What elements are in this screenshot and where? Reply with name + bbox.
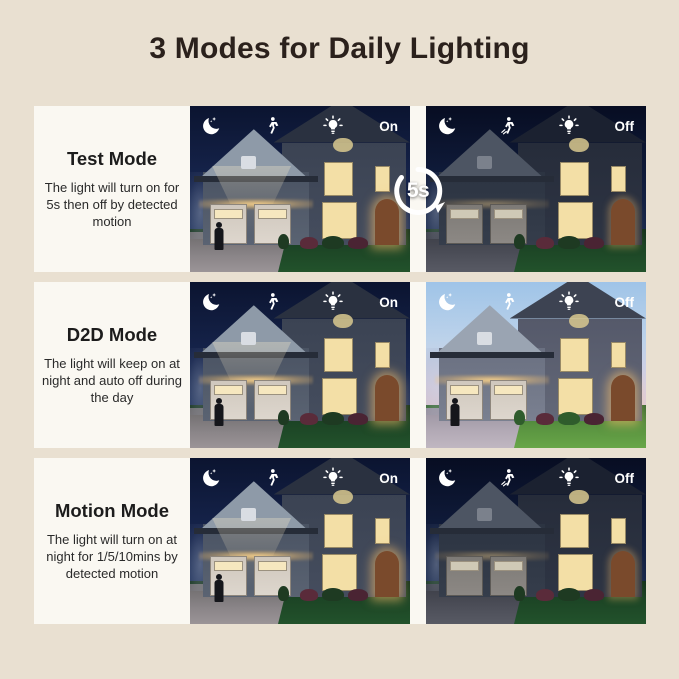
shrub [348,413,368,425]
scene-panel-light-off: Off [426,458,646,624]
shrub [322,236,344,249]
shrub [536,413,554,425]
garage-door-window [494,385,524,395]
mode-description: The light will keep on at night and auto… [40,355,184,407]
walking-person-motion-icon [493,463,523,493]
shrub [300,413,318,425]
person-body [214,580,223,602]
lightbulb-icon [318,463,348,493]
garage-door-window [450,209,480,219]
mode-title: D2D Mode [67,324,157,346]
walking-person-icon [257,287,287,317]
moon-stars-icon [196,111,226,141]
front-door [611,199,635,245]
shrub [584,413,604,425]
shrub [300,237,318,249]
lit-window [324,162,353,195]
shrub [322,412,344,425]
person-body [450,404,459,426]
walking-person [214,574,223,602]
moon-stars-icon [432,287,462,317]
status-icon-bar: Off [426,106,646,146]
garage-door-window [214,209,244,219]
shrub [558,588,580,601]
garage-door-window [450,561,480,571]
garage-door-window [214,561,244,571]
infographic-page: 3 Modes for Daily Lighting Test Mode The… [0,0,679,679]
front-door [375,375,399,421]
lit-window [375,342,390,369]
floodlight-fixture [477,332,492,345]
status-icon-bar: Off [426,458,646,498]
shrub [278,410,289,425]
lit-window [611,342,626,369]
person-body [214,228,223,250]
light-state-label: Off [614,471,640,486]
lit-window [375,518,390,545]
mode-description: The light will turn on for 5s then off b… [40,179,184,231]
mode-row: Motion Mode The light will turn on at ni… [34,458,646,624]
scene-panel-light-on: On [190,106,410,272]
lit-window [611,166,626,193]
walking-person-icon [257,111,287,141]
lit-window [560,338,589,371]
front-door [611,551,635,597]
garage-door-window [258,561,288,571]
lit-window [322,378,357,415]
lightbulb-icon [554,287,584,317]
mode-image-panels: On [190,458,646,624]
mode-text-card: Test Mode The light will turn on for 5s … [34,106,190,272]
panel-divider [414,282,422,448]
scene-panel-light-off-daytime: Off [426,282,646,448]
status-icon-bar: Off [426,282,646,322]
shrub [584,589,604,601]
shrub [514,410,525,425]
floodlight-fixture [241,156,256,169]
mode-title: Test Mode [67,148,157,170]
shrub [558,236,580,249]
status-icon-bar: On [190,282,410,322]
garage-door-window [258,385,288,395]
garage-door-window [450,385,480,395]
shrub [514,586,525,601]
panel-divider [414,106,422,272]
lit-window [324,514,353,547]
lit-window [322,202,357,239]
light-state-label: On [379,471,404,486]
mode-text-card: Motion Mode The light will turn on at ni… [34,458,190,624]
garage-door-window [258,209,288,219]
floodlight-fixture [241,332,256,345]
lightbulb-icon [554,463,584,493]
front-door [611,375,635,421]
walking-person [450,398,459,426]
shrub [300,589,318,601]
garage-door-window [214,385,244,395]
status-icon-bar: On [190,458,410,498]
floodlight-fixture [477,508,492,521]
light-state-label: On [379,119,404,134]
shrub [348,237,368,249]
shrub [536,237,554,249]
floodlight-fixture [477,156,492,169]
shrub [348,589,368,601]
light-state-label: On [379,295,404,310]
lightbulb-icon [318,111,348,141]
lit-window [560,162,589,195]
lit-window [324,338,353,371]
mode-rows: Test Mode The light will turn on for 5s … [34,106,646,624]
walking-person-icon [257,463,287,493]
shrub [278,586,289,601]
walking-person [214,222,223,250]
front-door [375,199,399,245]
lightbulb-icon [318,287,348,317]
mode-description: The light will turn on at night for 1/5/… [40,531,184,583]
moon-stars-icon [432,111,462,141]
moon-stars-icon [196,463,226,493]
lightbulb-icon [554,111,584,141]
shrub [322,588,344,601]
lit-window [375,166,390,193]
lit-window [558,202,593,239]
person-body [214,404,223,426]
scene-panel-light-on: On [190,458,410,624]
moon-stars-icon [432,463,462,493]
walking-person [214,398,223,426]
light-state-label: Off [614,295,640,310]
garage-door [446,204,483,244]
garage-door [446,556,483,596]
status-icon-bar: On [190,106,410,146]
walking-person-icon [493,287,523,317]
shrub [536,589,554,601]
mode-image-panels: On [190,106,646,272]
mode-title: Motion Mode [55,500,169,522]
lit-window [558,554,593,591]
lit-window [558,378,593,415]
mode-row: Test Mode The light will turn on for 5s … [34,106,646,272]
walking-person-motion-icon [493,111,523,141]
mode-text-card: D2D Mode The light will keep on at night… [34,282,190,448]
garage-door-window [494,561,524,571]
shrub [514,234,525,249]
panel-divider [414,458,422,624]
page-title: 3 Modes for Daily Lighting [0,32,679,66]
garage-eave [430,528,553,535]
shrub [584,237,604,249]
shrub [558,412,580,425]
shrub [278,234,289,249]
lit-window [560,514,589,547]
lit-window [611,518,626,545]
scene-panel-light-on: On [190,282,410,448]
front-door [375,551,399,597]
moon-stars-icon [196,287,226,317]
floodlight-fixture [241,508,256,521]
scene-panel-light-off: Off [426,106,646,272]
lit-window [322,554,357,591]
light-state-label: Off [614,119,640,134]
mode-image-panels: On [190,282,646,448]
garage-eave [430,352,553,359]
garage-eave [430,176,553,183]
garage-door-window [494,209,524,219]
mode-row: D2D Mode The light will keep on at night… [34,282,646,448]
